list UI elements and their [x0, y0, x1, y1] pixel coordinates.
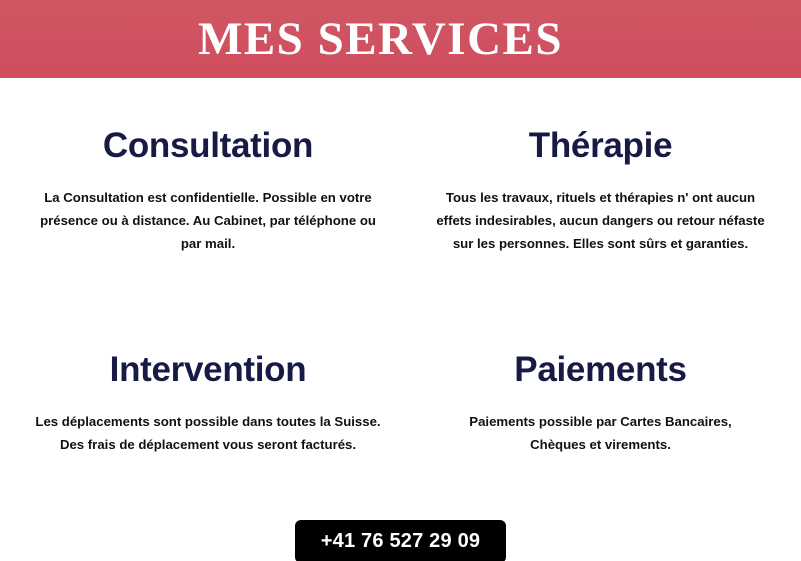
service-card-consultation: Consultation La Consultation est confide… [8, 126, 408, 256]
page-title: MES SERVICES [198, 16, 563, 63]
services-grid: Consultation La Consultation est confide… [0, 78, 801, 498]
service-body-intervention: Les déplacements sont possible dans tout… [8, 411, 408, 457]
phone-call-button[interactable]: +41 76 527 29 09 [295, 520, 506, 561]
service-card-therapie: Thérapie Tous les travaux, rituels et th… [408, 126, 793, 256]
service-heading-intervention: Intervention [8, 350, 408, 389]
services-page: MES SERVICES Consultation La Consultatio… [0, 0, 801, 561]
service-card-paiements: Paiements Paiements possible par Cartes … [408, 350, 793, 457]
service-heading-consultation: Consultation [8, 126, 408, 165]
service-heading-paiements: Paiements [408, 350, 793, 389]
service-body-therapie: Tous les travaux, rituels et thérapies n… [408, 187, 793, 255]
page-banner: MES SERVICES [0, 0, 801, 78]
service-body-paiements: Paiements possible par Cartes Bancaires,… [408, 411, 793, 457]
service-heading-therapie: Thérapie [408, 126, 793, 165]
service-card-intervention: Intervention Les déplacements sont possi… [8, 350, 408, 457]
service-body-consultation: La Consultation est confidentielle. Poss… [8, 187, 408, 255]
cta-container: +41 76 527 29 09 [0, 520, 801, 561]
